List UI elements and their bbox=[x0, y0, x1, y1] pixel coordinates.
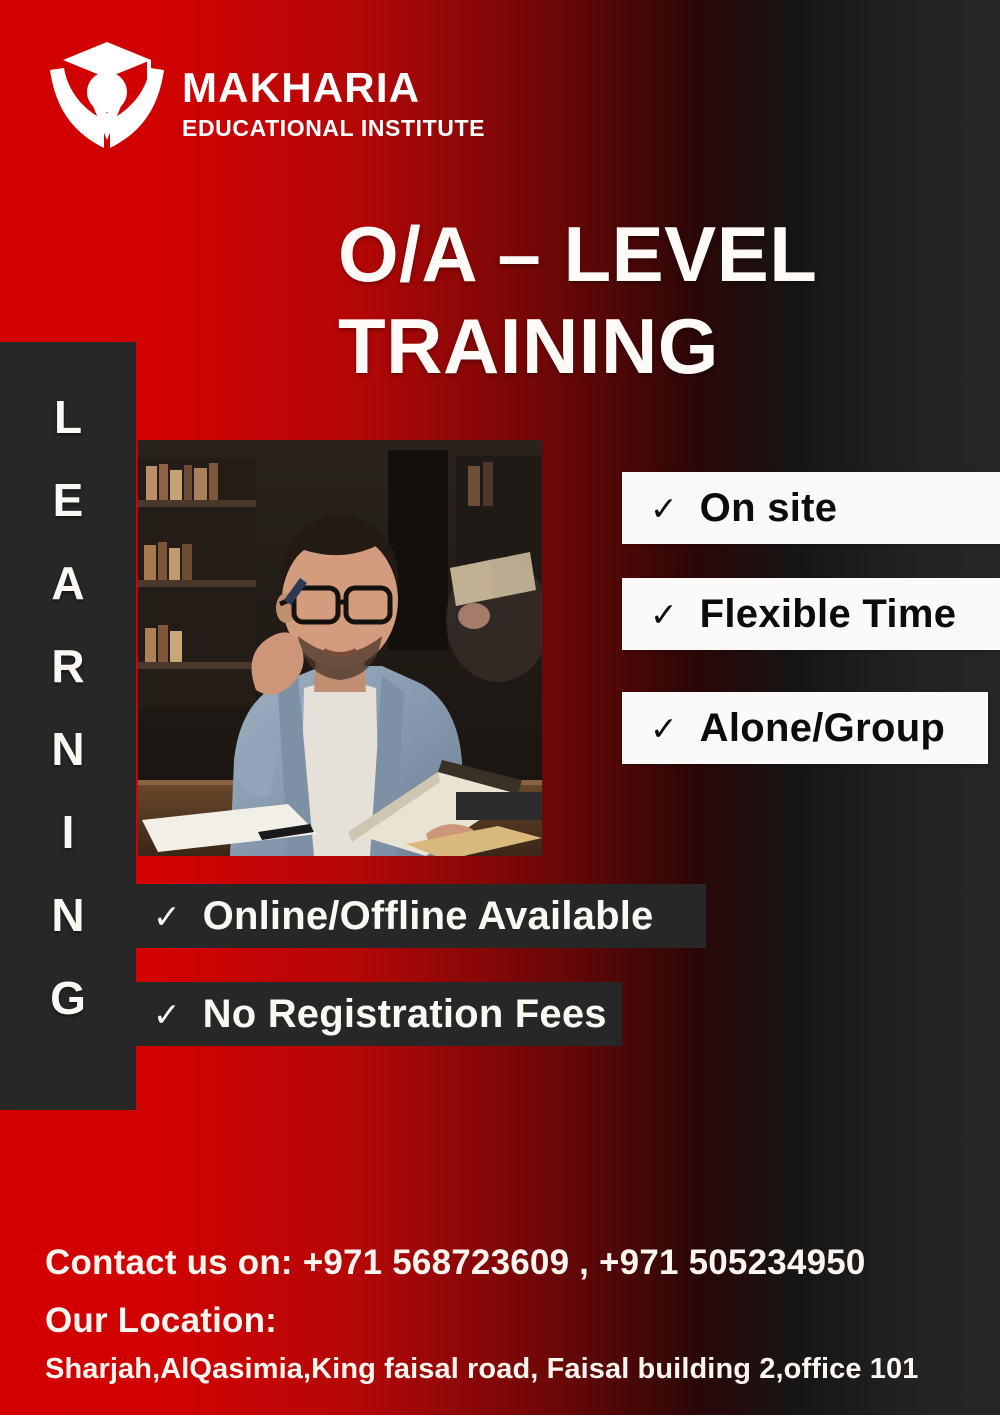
feature-label: Alone/Group bbox=[700, 706, 946, 751]
check-icon: ✓ bbox=[153, 900, 181, 933]
feature-label: Online/Offline Available bbox=[203, 894, 654, 939]
learning-letter: N bbox=[51, 892, 84, 938]
brand-logo: MAKHARIA EDUCATIONAL INSTITUTE bbox=[48, 34, 485, 154]
brand-tagline: EDUCATIONAL INSTITUTE bbox=[182, 117, 485, 140]
feature-badge-no-registration-fees[interactable]: ✓ No Registration Fees bbox=[135, 982, 622, 1046]
location-address[interactable]: Sharjah,AlQasimia,King faisal road, Fais… bbox=[45, 1353, 975, 1386]
check-icon: ✓ bbox=[650, 712, 678, 745]
page-title: O/A – LEVEL TRAINING bbox=[338, 208, 958, 392]
learning-letter: A bbox=[51, 560, 84, 606]
check-icon: ✓ bbox=[650, 598, 678, 631]
contact-phones[interactable]: Contact us on: +971 568723609 , +971 505… bbox=[45, 1243, 975, 1283]
check-icon: ✓ bbox=[153, 998, 181, 1031]
brand-name: MAKHARIA bbox=[182, 67, 485, 109]
feature-label: No Registration Fees bbox=[203, 992, 607, 1037]
contact-section: Contact us on: +971 568723609 , +971 505… bbox=[45, 1243, 975, 1386]
learning-letter: N bbox=[51, 726, 84, 772]
feature-badge-on-site[interactable]: ✓ On site bbox=[622, 472, 1000, 544]
feature-badge-online-offline[interactable]: ✓ Online/Offline Available bbox=[135, 884, 706, 948]
learning-sidebar-panel: L E A R N I N G bbox=[0, 342, 136, 1110]
location-label: Our Location: bbox=[45, 1301, 975, 1341]
learning-letter: R bbox=[51, 643, 84, 689]
page-title-line-2: TRAINING bbox=[338, 300, 958, 392]
graduation-cap-book-logo-icon bbox=[48, 34, 166, 154]
feature-label: On site bbox=[700, 486, 838, 531]
feature-badge-alone-group[interactable]: ✓ Alone/Group bbox=[622, 692, 988, 764]
feature-label: Flexible Time bbox=[700, 592, 957, 637]
vertical-learning-word: L E A R N I N G bbox=[0, 394, 136, 1058]
student-reading-photo bbox=[138, 440, 542, 856]
learning-letter: E bbox=[53, 477, 84, 523]
learning-letter: G bbox=[50, 975, 86, 1021]
learning-letter: I bbox=[62, 809, 75, 855]
poster-canvas: MAKHARIA EDUCATIONAL INSTITUTE O/A – LEV… bbox=[0, 0, 1000, 1415]
check-icon: ✓ bbox=[650, 492, 678, 525]
page-title-line-1: O/A – LEVEL bbox=[338, 208, 958, 300]
brand-logo-text: MAKHARIA EDUCATIONAL INSTITUTE bbox=[182, 49, 485, 140]
learning-letter: L bbox=[54, 394, 82, 440]
feature-badge-flexible-time[interactable]: ✓ Flexible Time bbox=[622, 578, 1000, 650]
